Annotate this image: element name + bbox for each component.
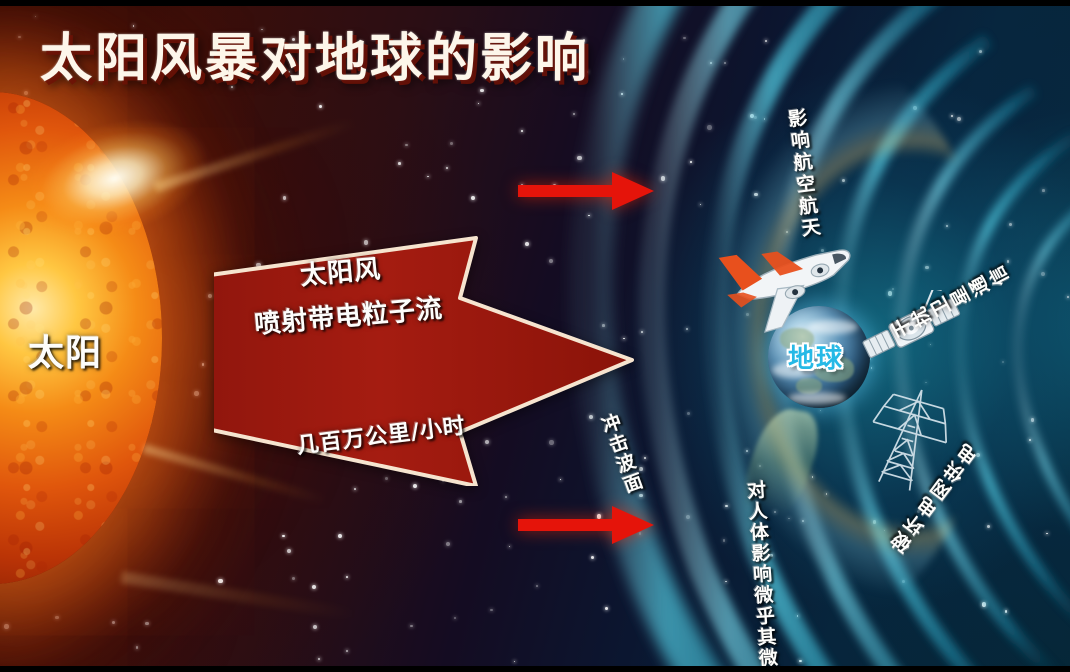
solar-storm-infographic: 太阳风暴对地球的影响 太阳 太阳风 喷射带电粒子流 几百万公里/小时 冲击波面 …: [0, 0, 1070, 672]
label-sun: 太阳: [28, 324, 102, 376]
airplane-icon: [718, 226, 870, 336]
star: [405, 144, 407, 146]
red-arrow-top: [518, 168, 654, 214]
frame-edge-top: [0, 0, 1070, 6]
star: [398, 162, 401, 165]
star: [454, 617, 456, 619]
star: [446, 167, 448, 169]
star: [410, 625, 412, 627]
solar-wind-arrow-icon: [214, 236, 634, 486]
star: [478, 103, 479, 104]
star: [446, 542, 450, 546]
page-title: 太阳风暴对地球的影响: [40, 16, 590, 91]
star: [471, 196, 475, 200]
red-arrow-bottom: [518, 502, 654, 548]
label-solar-wind: 太阳风: [299, 249, 383, 293]
star: [427, 176, 429, 178]
star: [450, 142, 453, 145]
label-earth: 地球: [788, 338, 844, 375]
star: [459, 500, 462, 503]
frame-edge-bottom: [0, 666, 1070, 672]
